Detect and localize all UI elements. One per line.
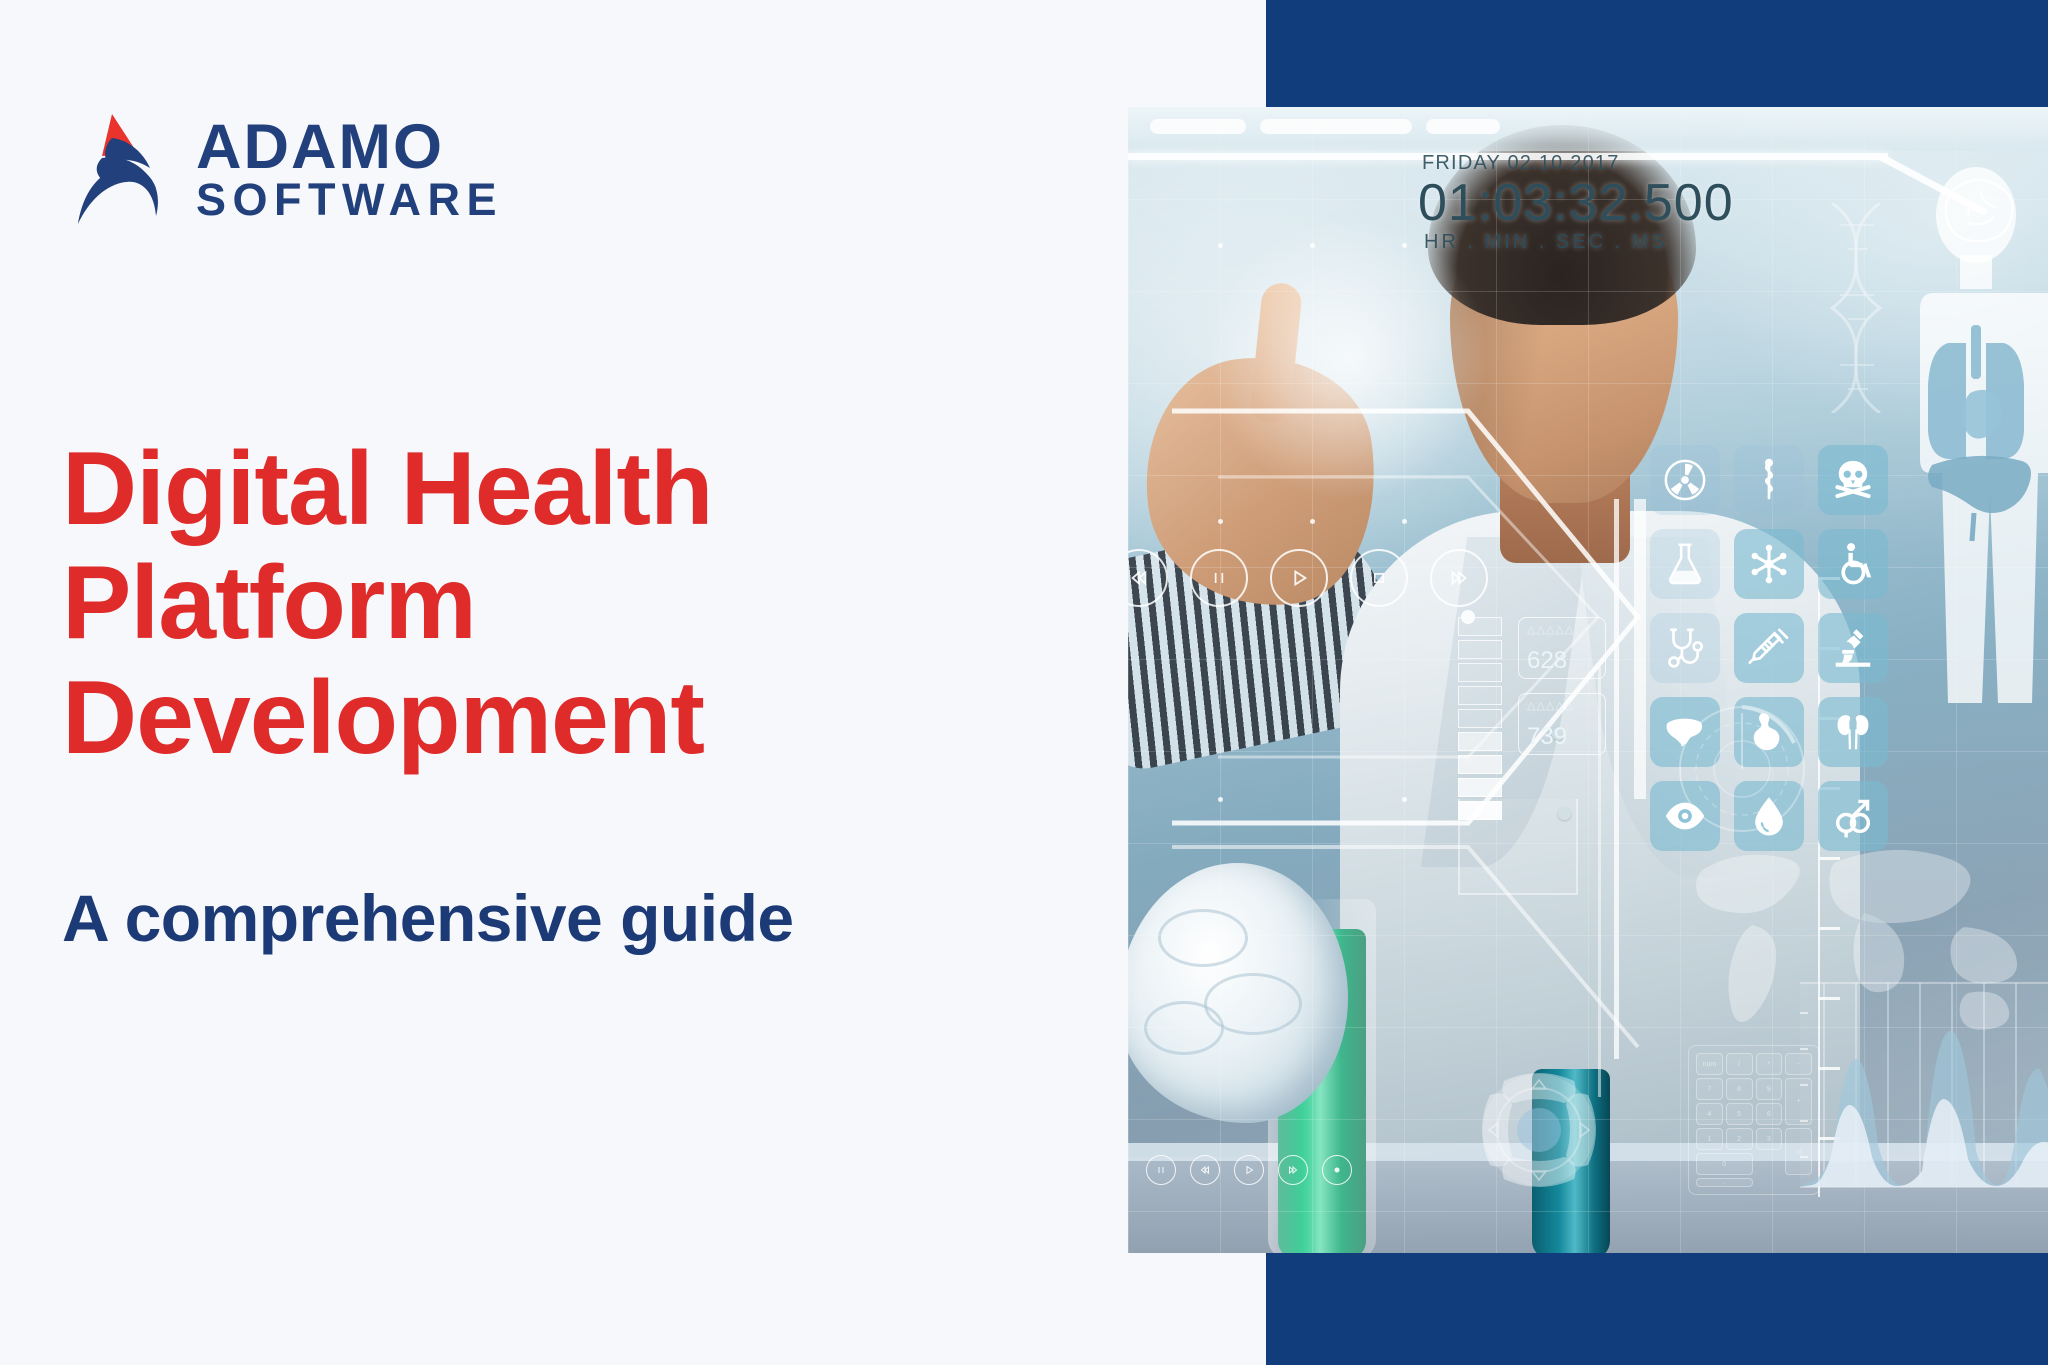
page-title-line-2: Platform xyxy=(62,546,1092,660)
left-content-column: ADAMO SOFTWARE Digital Health Platform D… xyxy=(0,0,1130,1365)
page-subtitle-lead: A xyxy=(62,881,107,955)
logo-line-adamo: ADAMO xyxy=(196,117,503,178)
logo-line-software: SOFTWARE xyxy=(196,178,503,222)
page-subtitle-rest: comprehensive guide xyxy=(125,881,794,955)
doctor-futuristic-medical-interface-photo: FRIDAY 02.10.2017 01:03:32.500 HR . MIN … xyxy=(1128,107,2048,1253)
adamo-software-logo: ADAMO SOFTWARE xyxy=(68,110,503,228)
page-title-line-1: Digital Health xyxy=(62,432,1092,546)
adamo-logo-mark-icon xyxy=(68,110,172,228)
page-title-line-3: Development xyxy=(62,661,1092,775)
page-title: Digital Health Platform Development xyxy=(62,432,1092,775)
photo-light-flare xyxy=(1128,107,2048,1253)
adamo-logo-wordmark: ADAMO SOFTWARE xyxy=(196,117,503,222)
page-subtitle: A comprehensive guide xyxy=(62,880,1092,956)
